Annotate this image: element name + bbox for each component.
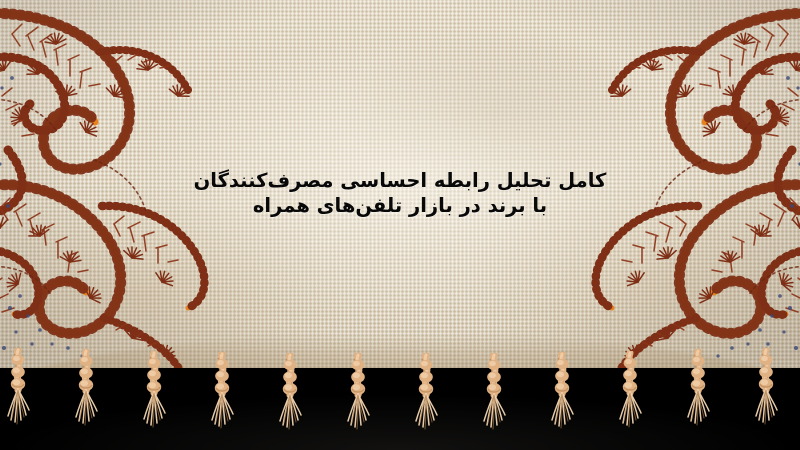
fringe-tassel	[751, 348, 781, 432]
tassel-fringe	[0, 350, 800, 450]
fringe-tassel	[207, 352, 237, 436]
fringe-tassel	[411, 353, 441, 437]
fringe-tassel	[139, 351, 169, 435]
slide-canvas: کامل تحلیل رابطه احساسی مصرف‌کنندگان با …	[0, 0, 800, 450]
fringe-tassel	[683, 349, 713, 433]
fringe-tassel	[479, 353, 509, 437]
fringe-tassel	[3, 348, 33, 432]
title-line-1: کامل تحلیل رابطه احساسی مصرف‌کنندگان	[0, 168, 800, 193]
slide-title: کامل تحلیل رابطه احساسی مصرف‌کنندگان با …	[0, 168, 800, 219]
fringe-tassel	[71, 349, 101, 433]
title-line-2: با برند در بازار تلفن‌های همراه	[0, 193, 800, 218]
fringe-tassel	[275, 353, 305, 437]
fringe-tassel	[547, 352, 577, 436]
fringe-tassel	[615, 351, 645, 435]
fringe-tassel	[343, 353, 373, 437]
